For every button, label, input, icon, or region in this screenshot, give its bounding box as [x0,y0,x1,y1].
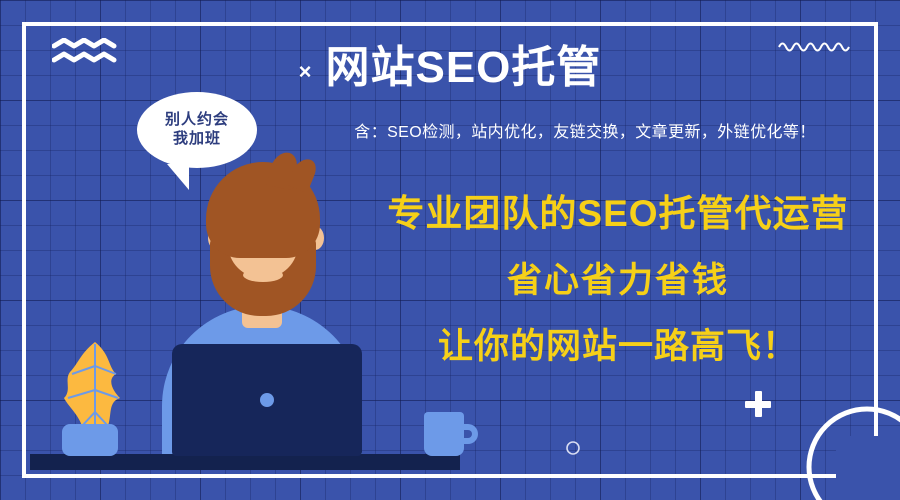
corner-circle-icon [792,392,900,500]
small-circle-icon [565,440,581,456]
desk-surface [30,454,460,470]
laptop-logo-icon [260,393,274,407]
coffee-mug [424,412,464,456]
coffee-mug-handle [460,424,478,444]
plant-pot [62,424,118,456]
page-subtitle: 含：SEO检测，站内优化，友链交换，文章更新，外链优化等！ [300,118,870,142]
frame-corner-mask [836,436,900,500]
speech-bubble-line-1: 别人约会 [165,111,229,130]
seo-promo-banner: × 网站SEO托管 含：SEO检测，站内优化，友链交换，文章更新，外链优化等！ … [0,0,900,500]
plus-icon [744,390,772,418]
title-row: × 网站SEO托管 [0,44,900,92]
laptop [172,344,362,456]
illustration-man-at-laptop [0,140,520,500]
character-mouth [243,268,283,282]
plant-leaf-icon [58,340,132,436]
title-x-mark: × [299,61,312,83]
page-title: 网站SEO托管 [325,44,601,92]
